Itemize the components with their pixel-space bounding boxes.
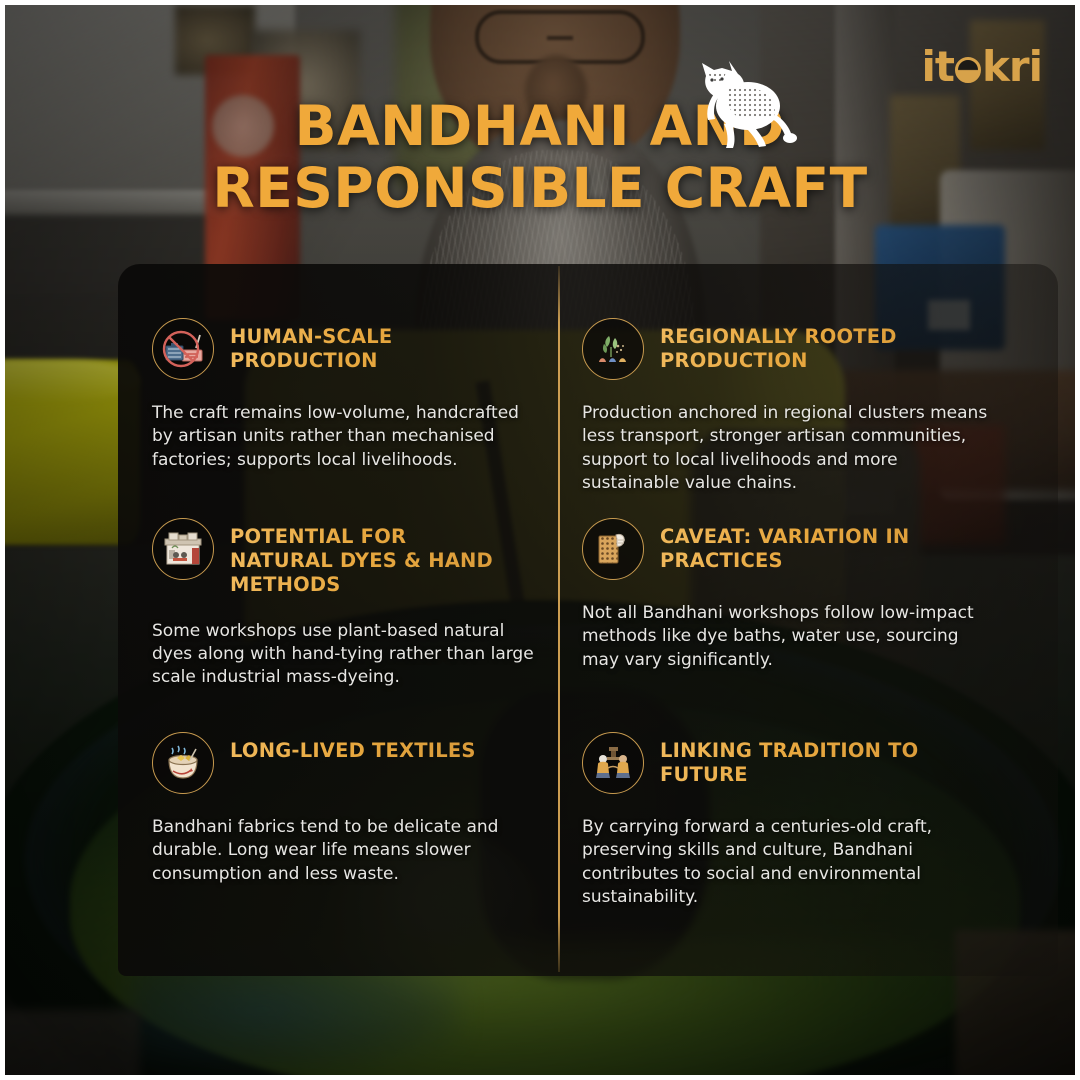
infographic-poster: itkri BANDHANI AND RESPONSIBLE CRAFT <box>0 0 1080 1080</box>
workshop-building-icon <box>152 518 214 580</box>
frame-border-right <box>1075 0 1080 1080</box>
item-title: HUMAN-SCALE PRODUCTION <box>230 318 512 373</box>
logo-text-part2: kri <box>982 42 1042 91</box>
item-description: The craft remains low-volume, handcrafte… <box>152 402 544 472</box>
item-description: Production anchored in regional clusters… <box>582 402 992 495</box>
cat-illustration-icon <box>688 58 803 153</box>
item-title: LINKING TRADITION TO FUTURE <box>660 732 952 787</box>
item-title: CAVEAT: VARIATION IN PRACTICES <box>660 518 952 573</box>
no-factory-icon <box>152 318 214 380</box>
item-header: REGIONALLY ROOTED PRODUCTION <box>582 318 952 380</box>
logo-text-part1: it <box>921 42 953 91</box>
frame-border-bottom <box>0 1075 1080 1080</box>
two-artisans-icon <box>582 732 644 794</box>
item-description: Not all Bandhani workshops follow low-im… <box>582 602 992 672</box>
item-title: POTENTIAL FOR NATURAL DYES & HAND METHOD… <box>230 518 512 598</box>
item-header: POTENTIAL FOR NATURAL DYES & HAND METHOD… <box>152 518 512 598</box>
item-linking-tradition-to-future[interactable]: LINKING TRADITION TO FUTURE By carrying … <box>582 732 992 909</box>
itokri-logo[interactable]: itkri <box>921 42 1042 91</box>
item-natural-dyes-hand-methods[interactable]: POTENTIAL FOR NATURAL DYES & HAND METHOD… <box>152 518 544 689</box>
item-title: LONG-LIVED TEXTILES <box>230 732 476 763</box>
item-regionally-rooted-production[interactable]: REGIONALLY ROOTED PRODUCTION Production … <box>582 318 992 495</box>
item-header: CAVEAT: VARIATION IN PRACTICES <box>582 518 952 580</box>
hand-holding-fabric-icon <box>582 518 644 580</box>
item-human-scale-production[interactable]: HUMAN-SCALE PRODUCTION The craft remains… <box>152 318 544 472</box>
item-caveat-variation-in-practices[interactable]: CAVEAT: VARIATION IN PRACTICES Not all B… <box>582 518 992 672</box>
item-title: REGIONALLY ROOTED PRODUCTION <box>660 318 952 373</box>
item-header: LINKING TRADITION TO FUTURE <box>582 732 952 794</box>
item-header: LONG-LIVED TEXTILES <box>152 732 512 794</box>
frame-border-left <box>0 0 5 1080</box>
page-title: BANDHANI AND RESPONSIBLE CRAFT <box>0 96 1080 219</box>
title-line-2: RESPONSIBLE CRAFT <box>0 158 1080 220</box>
dye-pot-icon <box>152 732 214 794</box>
seedling-sprout-icon <box>582 318 644 380</box>
item-long-lived-textiles[interactable]: LONG-LIVED TEXTILES Bandhani fabrics ten… <box>152 732 544 886</box>
frame-border-top <box>0 0 1080 5</box>
item-description: Some workshops use plant-based natural d… <box>152 620 544 690</box>
item-description: Bandhani fabrics tend to be delicate and… <box>152 816 544 886</box>
title-line-1: BANDHANI AND <box>0 96 1080 158</box>
item-header: HUMAN-SCALE PRODUCTION <box>152 318 512 380</box>
item-description: By carrying forward a centuries-old craf… <box>582 816 992 909</box>
logo-basket-o-icon <box>955 57 981 83</box>
